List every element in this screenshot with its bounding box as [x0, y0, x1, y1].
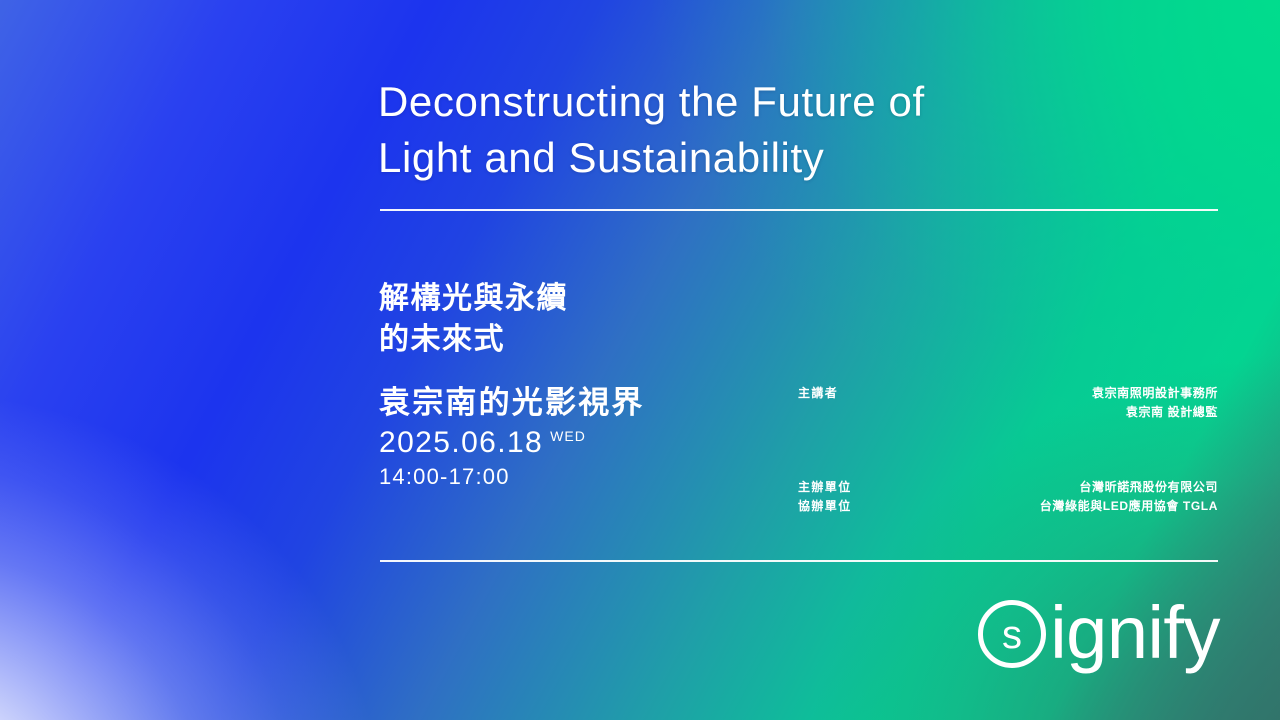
talk-title: 袁宗南的光影視界: [379, 383, 645, 423]
poster-headline: Deconstructing the Future of Light and S…: [378, 74, 1078, 186]
event-time: 14:00-17:00: [379, 463, 510, 491]
credit-label: 主辦單位: [798, 480, 852, 495]
credit-row: 主辦單位 台灣昕諾飛股份有限公司: [798, 480, 1218, 495]
poster-subtitle: 解構光與永續 的未來式: [379, 278, 568, 360]
speaker-credits: 主講者 袁宗南照明設計事務所 袁宗南 設計總監: [798, 386, 1218, 419]
credit-value: 台灣昕諾飛股份有限公司: [1079, 480, 1218, 495]
organizer-credits: 主辦單位 台灣昕諾飛股份有限公司 協辦單位 台灣綠能與LED應用協會 TGLA: [798, 480, 1218, 513]
credit-value: 袁宗南 設計總監: [1126, 405, 1218, 420]
credit-value: 袁宗南照明設計事務所: [1092, 386, 1218, 401]
divider-bottom: [380, 560, 1218, 562]
credit-label: 協辦單位: [798, 499, 852, 514]
credit-row: 主講者 袁宗南照明設計事務所: [798, 386, 1218, 401]
event-date-row: 2025.06.18 WED: [379, 425, 586, 461]
divider-top: [380, 209, 1218, 211]
event-date: 2025.06.18: [379, 425, 543, 461]
circled-s-icon: s: [976, 598, 1048, 670]
credit-value: 台灣綠能與LED應用協會 TGLA: [1040, 499, 1218, 514]
signify-wordmark: ignify: [1050, 596, 1220, 670]
event-poster: Deconstructing the Future of Light and S…: [0, 0, 1280, 720]
credit-label: 主講者: [798, 386, 838, 401]
svg-text:s: s: [1002, 613, 1022, 657]
event-weekday: WED: [550, 428, 586, 444]
credit-row: 協辦單位 台灣綠能與LED應用協會 TGLA: [798, 499, 1218, 514]
credit-row: 袁宗南 設計總監: [798, 405, 1218, 420]
poster-content: Deconstructing the Future of Light and S…: [0, 0, 1280, 720]
signify-logo: s ignify: [976, 596, 1220, 672]
